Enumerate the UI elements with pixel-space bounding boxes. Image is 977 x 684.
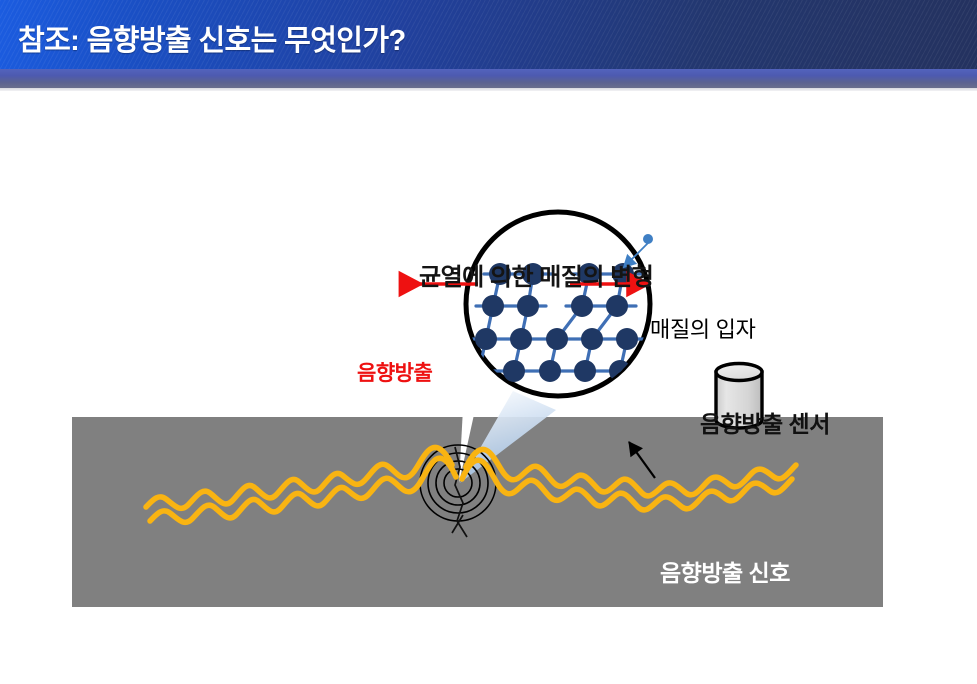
sensor-label: 음향방출 센서 bbox=[700, 413, 830, 436]
page-title: 참조: 음향방출 신호는 무엇인가? bbox=[18, 17, 406, 59]
acoustic-emission-diagram: 균열에 의한 매질의 변형 매질의 입자 음향방출 음향방출 센서 음향방출 신… bbox=[0, 91, 977, 684]
medium-label: 매질 bbox=[136, 611, 199, 645]
acoustic-emission-label: 음향방출 bbox=[357, 363, 432, 384]
crack-occurrence-label: 균열발생 bbox=[398, 626, 477, 648]
deformation-title-label: 균열에 의한 매질의 변형 bbox=[419, 266, 653, 290]
ae-signal-label: 음향방출 신호 bbox=[660, 562, 790, 585]
medium-particle-label: 매질의 입자 bbox=[650, 319, 756, 341]
header-accent-bar bbox=[0, 69, 977, 88]
